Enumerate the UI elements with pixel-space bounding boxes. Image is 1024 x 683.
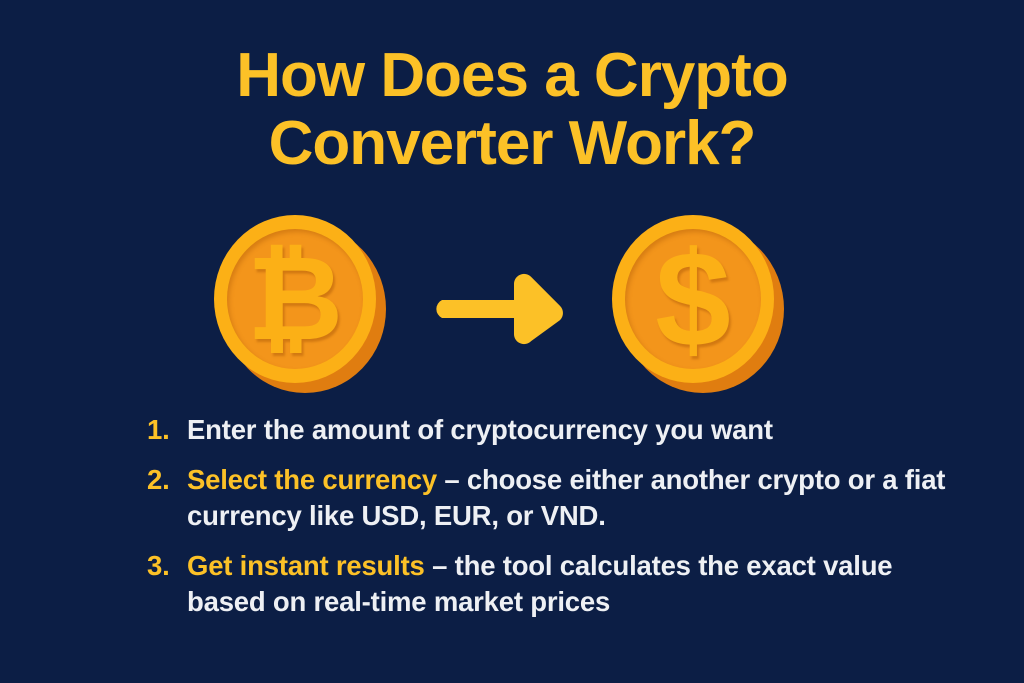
step-separator: – <box>437 464 467 495</box>
step-lead: Select the currency <box>187 464 437 495</box>
step-lead: Get instant results <box>187 550 425 581</box>
step-separator: – <box>425 550 455 581</box>
arrow-right-icon <box>432 272 568 346</box>
bitcoin-icon: ₿ <box>214 215 376 383</box>
step-number: 3. <box>147 548 170 584</box>
list-item: 3. Get instant results – the tool calcul… <box>147 548 964 620</box>
list-item: 2. Select the currency – choose either a… <box>147 462 964 534</box>
list-item: 1. Enter the amount of cryptocurrency yo… <box>147 412 964 448</box>
page-title: How Does a Crypto Converter Work? <box>0 42 1024 178</box>
steps-list: 1. Enter the amount of cryptocurrency yo… <box>147 412 964 620</box>
title-line-1: How Does a Crypto <box>0 42 1024 110</box>
title-line-2: Converter Work? <box>0 110 1024 178</box>
step-body: Enter the amount of cryptocurrency you w… <box>187 414 773 445</box>
step-number: 1. <box>147 412 170 448</box>
bitcoin-coin: ₿ <box>214 215 386 393</box>
step-number: 2. <box>147 462 170 498</box>
dollar-coin: $ <box>612 215 784 393</box>
conversion-graphic: ₿ $ <box>0 210 1024 400</box>
dollar-icon: $ <box>612 215 774 383</box>
infographic-canvas: How Does a Crypto Converter Work? ₿ $ 1.… <box>0 0 1024 683</box>
